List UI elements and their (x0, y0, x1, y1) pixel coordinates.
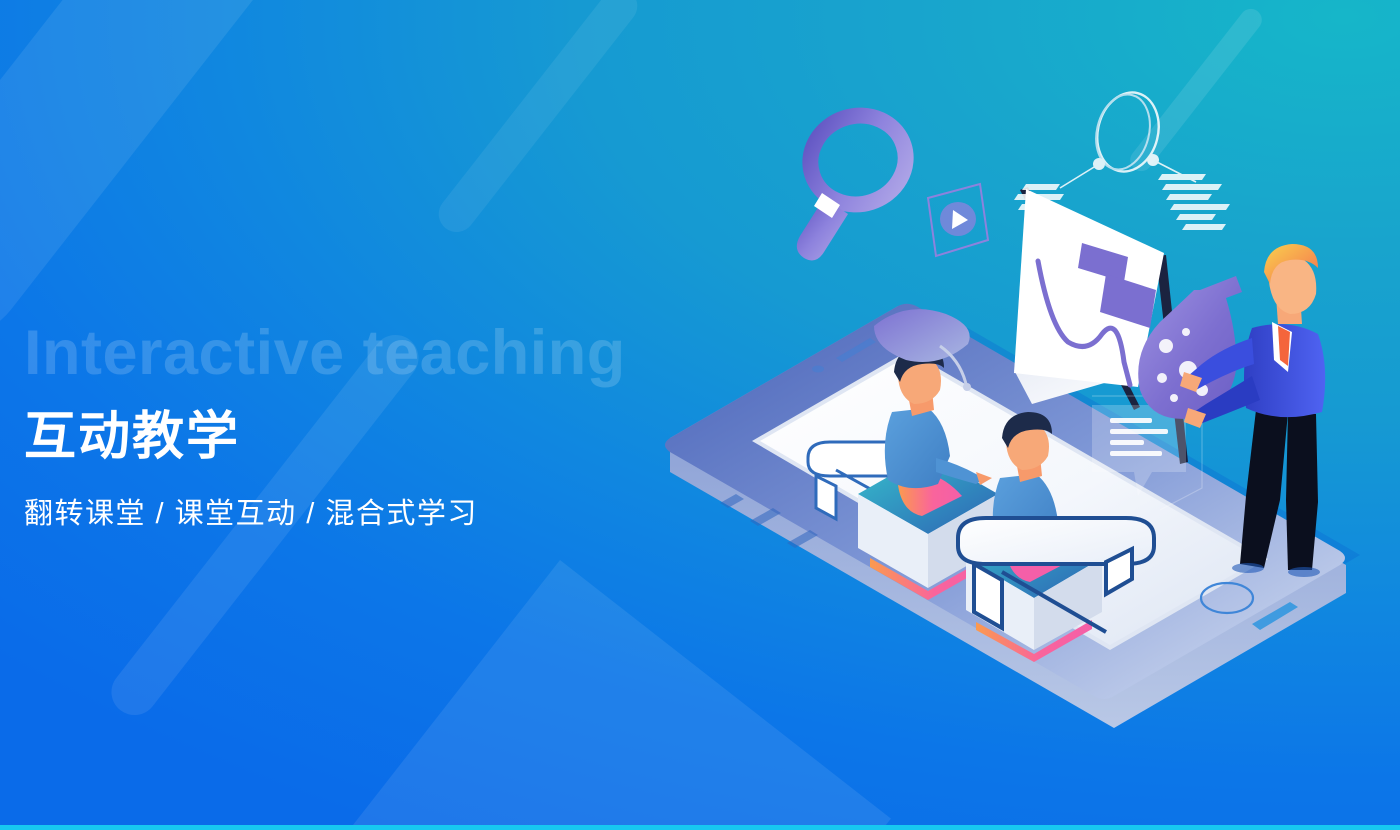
teacher-leg-right (1286, 412, 1318, 570)
hero-illustration (640, 60, 1400, 830)
decorative-stripe-thin (431, 0, 644, 239)
page-subtitle: 翻转课堂 / 课堂互动 / 混合式学习 (24, 490, 744, 532)
video-play-icon (928, 184, 988, 256)
front-camera-icon (812, 366, 824, 373)
magnifier-icon (797, 103, 917, 260)
hero-text-block: Interactive teaching 互动教学 翻转课堂 / 课堂互动 / … (24, 322, 744, 532)
ghost-headline: Interactive teaching (24, 322, 744, 385)
decorative-stripe-large (0, 0, 359, 368)
hero-banner: Interactive teaching 互动教学 翻转课堂 / 课堂互动 / … (0, 0, 1400, 830)
atom-text-lines-right (1158, 174, 1230, 230)
atom-diagram-icon (1014, 86, 1230, 230)
page-title: 互动教学 (24, 409, 744, 466)
